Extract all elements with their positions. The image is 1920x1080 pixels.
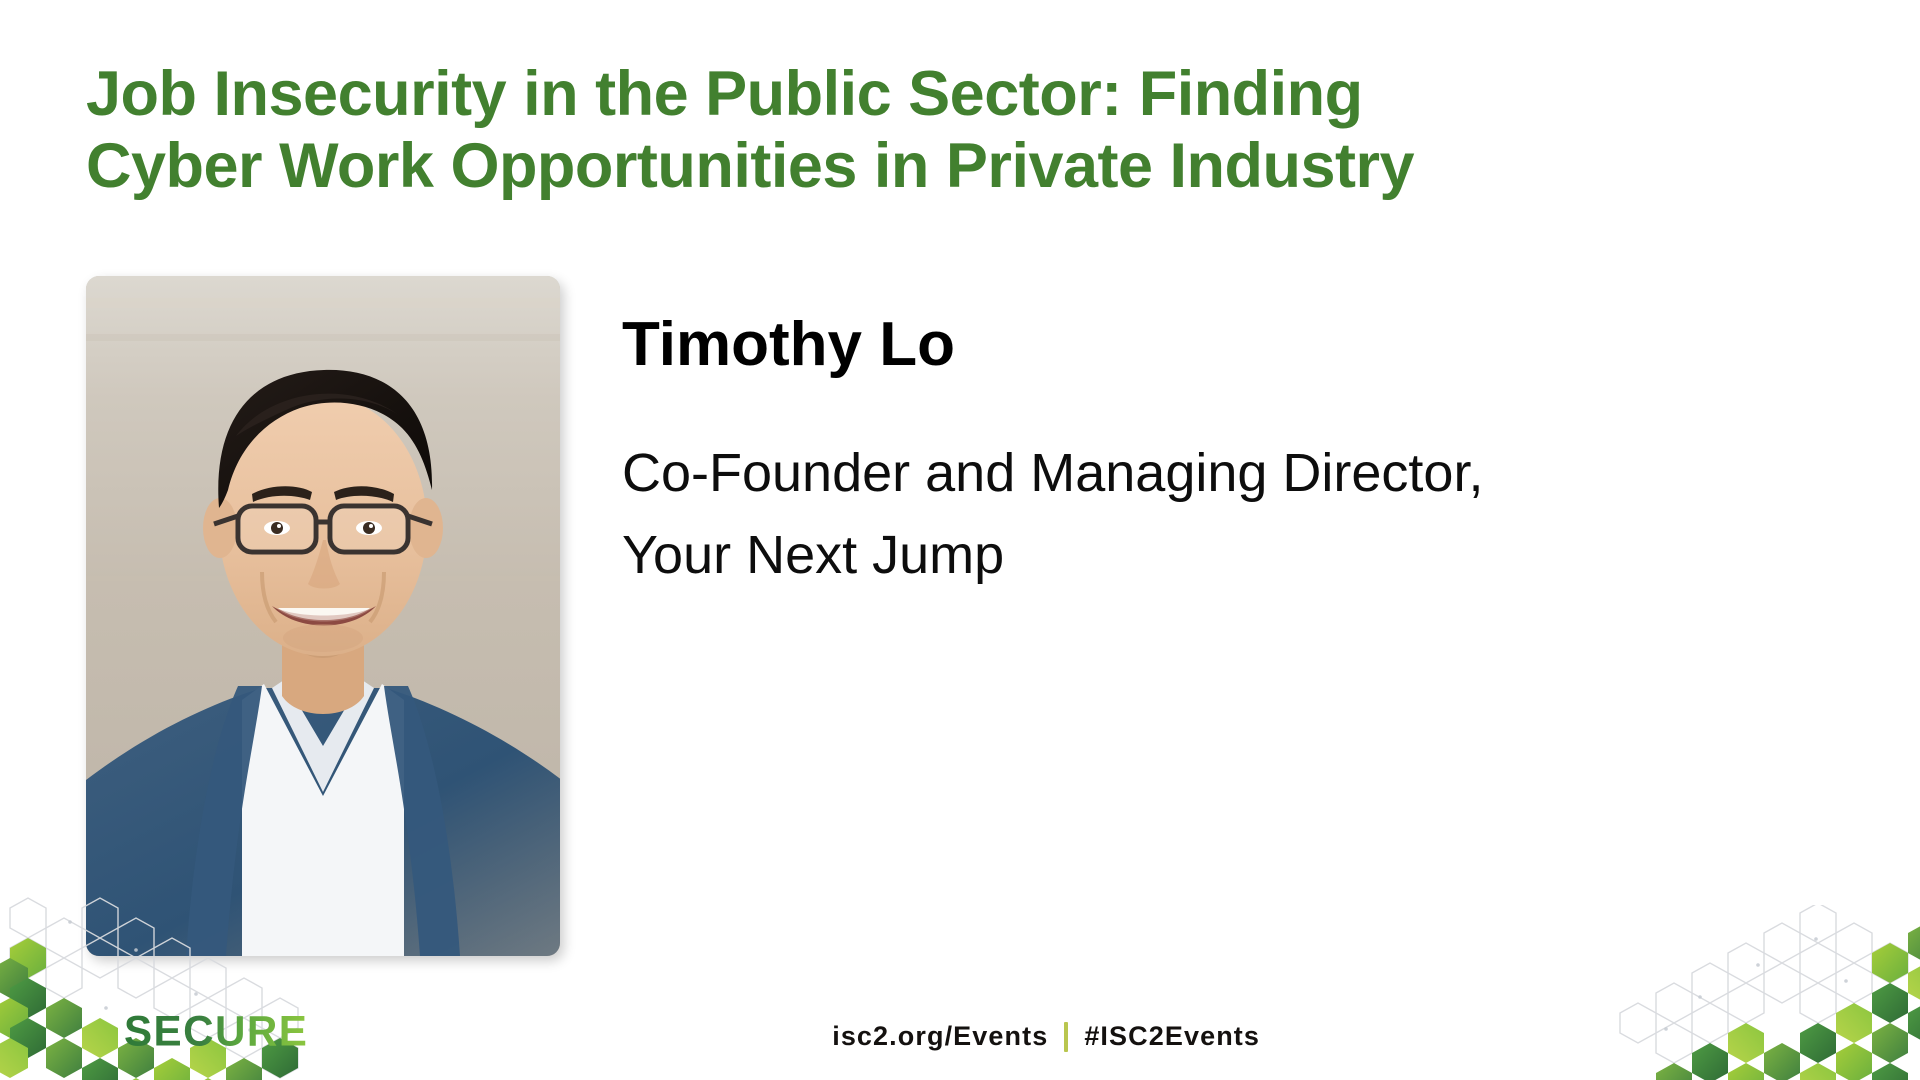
speaker-role: Co-Founder and Managing Director, Your N… (622, 432, 1822, 596)
speaker-name: Timothy Lo (622, 312, 955, 377)
secure-logo-text: SECURE (124, 1009, 308, 1054)
events-hashtag[interactable]: #ISC2Events (1084, 1021, 1260, 1052)
title-line-2: Cyber Work Opportunities in Private Indu… (86, 130, 1846, 202)
speaker-role-line-1: Co-Founder and Managing Director, (622, 432, 1822, 514)
page-title: Job Insecurity in the Public Sector: Fin… (86, 58, 1846, 203)
speaker-role-line-2: Your Next Jump (622, 514, 1822, 596)
footer-links: isc2.org/Events #ISC2Events (832, 1021, 1260, 1052)
hexagon-pattern-right-icon (1500, 905, 1920, 1080)
secure-logo: SECURE (124, 1009, 392, 1055)
events-website-link[interactable]: isc2.org/Events (832, 1021, 1048, 1052)
hexagon-pattern-right-svg (1500, 905, 1920, 1080)
speaker-photo (86, 276, 560, 956)
headshot-illustration (86, 276, 560, 956)
title-line-1: Job Insecurity in the Public Sector: Fin… (86, 58, 1846, 130)
presentation-slide: Job Insecurity in the Public Sector: Fin… (0, 0, 1920, 1080)
secure-logo-wordmark: SECURE (124, 1009, 392, 1055)
footer-divider (1064, 1022, 1068, 1052)
